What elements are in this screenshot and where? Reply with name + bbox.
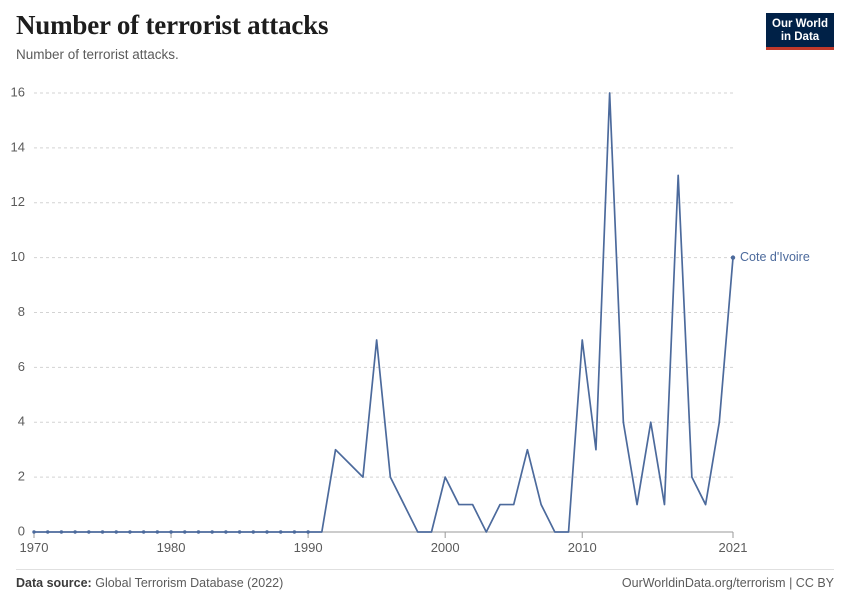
attribution-link[interactable]: OurWorldinData.org/terrorism | CC BY xyxy=(622,576,834,590)
chart-page: Number of terrorist attacks Number of te… xyxy=(0,0,850,600)
our-world-in-data-logo[interactable]: Our World in Data xyxy=(766,13,834,50)
logo-line-1: Our World xyxy=(772,18,828,31)
page-title: Number of terrorist attacks xyxy=(16,8,834,42)
line-chart-svg[interactable]: 0246810121416 197019801990200020102021 C… xyxy=(0,78,850,560)
logo-spacer xyxy=(772,44,828,47)
x-axis xyxy=(34,532,733,538)
series-data-point[interactable] xyxy=(169,530,172,533)
series-data-point[interactable] xyxy=(279,530,282,533)
y-tick-label: 2 xyxy=(18,469,25,484)
chart-plot-area[interactable]: 0246810121416 197019801990200020102021 C… xyxy=(0,78,850,560)
x-tick-label: 2021 xyxy=(719,540,748,555)
series-data-point[interactable] xyxy=(306,530,309,533)
series-data-point[interactable] xyxy=(210,530,213,533)
series-data-point[interactable] xyxy=(87,530,90,533)
x-tick-label: 2010 xyxy=(568,540,597,555)
series-data-point[interactable] xyxy=(32,530,35,533)
series-data-point[interactable] xyxy=(183,530,186,533)
series-data-point[interactable] xyxy=(73,530,76,533)
series-data-point[interactable] xyxy=(224,530,227,533)
chart-subtitle: Number of terrorist attacks. xyxy=(16,46,834,64)
series-end-label-text[interactable]: Cote d'Ivoire xyxy=(740,250,810,264)
series-data-point[interactable] xyxy=(128,530,131,533)
data-source-value: Global Terrorism Database (2022) xyxy=(95,576,283,590)
data-series-group[interactable] xyxy=(32,93,735,534)
series-data-point[interactable] xyxy=(46,530,49,533)
series-data-point[interactable] xyxy=(60,530,63,533)
series-data-point[interactable] xyxy=(197,530,200,533)
y-tick-label: 16 xyxy=(11,84,25,99)
y-tick-label: 14 xyxy=(11,139,25,154)
x-tick-label: 1990 xyxy=(294,540,323,555)
series-data-point[interactable] xyxy=(101,530,104,533)
data-source-label: Data source: xyxy=(16,576,92,590)
chart-footer: Data source: Global Terrorism Database (… xyxy=(16,569,834,589)
data-source: Data source: Global Terrorism Database (… xyxy=(16,576,283,590)
y-tick-label: 0 xyxy=(18,523,25,538)
series-data-point[interactable] xyxy=(115,530,118,533)
x-axis-tick-labels: 197019801990200020102021 xyxy=(20,540,748,555)
series-data-point[interactable] xyxy=(156,530,159,533)
y-tick-label: 10 xyxy=(11,249,25,264)
x-tick-label: 1970 xyxy=(20,540,49,555)
y-axis-tick-labels: 0246810121416 xyxy=(11,84,25,538)
series-data-point[interactable] xyxy=(293,530,296,533)
series-end-point[interactable] xyxy=(731,255,735,259)
series-data-point[interactable] xyxy=(252,530,255,533)
series-data-point[interactable] xyxy=(238,530,241,533)
y-tick-label: 4 xyxy=(18,414,25,429)
x-tick-label: 2000 xyxy=(431,540,460,555)
x-tick-label: 1980 xyxy=(157,540,186,555)
series-data-point[interactable] xyxy=(142,530,145,533)
series-end-label[interactable]: Cote d'Ivoire xyxy=(740,250,810,264)
series-data-point[interactable] xyxy=(265,530,268,533)
grid-lines xyxy=(34,93,733,532)
logo-line-2: in Data xyxy=(772,31,828,44)
y-tick-label: 8 xyxy=(18,304,25,319)
y-tick-label: 12 xyxy=(11,194,25,209)
y-tick-label: 6 xyxy=(18,359,25,374)
chart-header: Number of terrorist attacks Number of te… xyxy=(16,8,834,64)
